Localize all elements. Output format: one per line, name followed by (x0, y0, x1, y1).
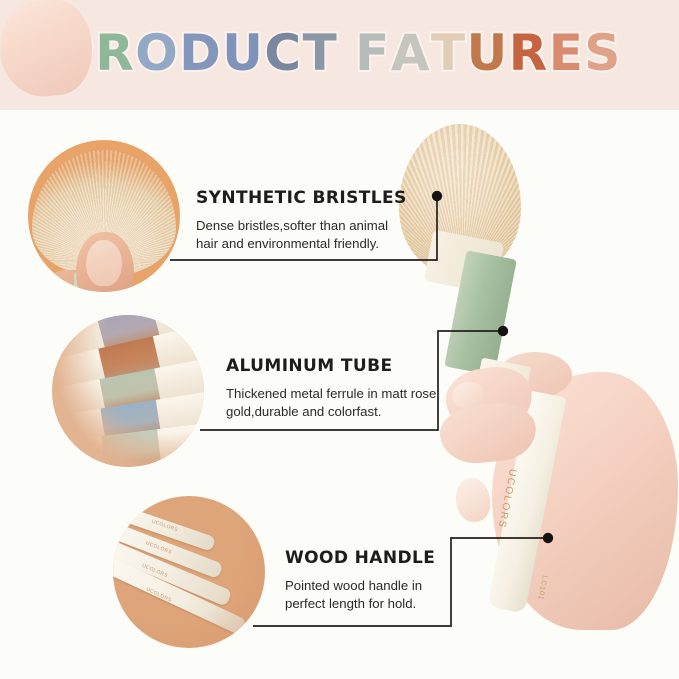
feature-description: Pointed wood handle in perfect length fo… (285, 577, 435, 612)
feature-block-synthetic-bristles: SYNTHETIC BRISTLES Dense bristles,softer… (196, 188, 407, 252)
feature-block-wood-handle: WOOD HANDLE Pointed wood handle in perfe… (285, 548, 435, 612)
feature-title: SYNTHETIC BRISTLES (196, 188, 407, 208)
feature-desc-line1: Pointed wood handle in (285, 578, 422, 593)
feature-description: Dense bristles,softer than animal hair a… (196, 217, 407, 252)
feature-desc-line2: perfect length for hold. (285, 596, 416, 611)
infographic-canvas: PRODUCTFATURES UCOLORSUCOLORSUCOLORSUCOL… (0, 0, 679, 679)
feature-desc-line1: Thickened metal ferrule in matt rose (226, 386, 436, 401)
feature-title: WOOD HANDLE (285, 548, 435, 568)
feature-desc-line1: Dense bristles,softer than animal (196, 218, 388, 233)
feature-block-aluminum-tube: ALUMINUM TUBE Thickened metal ferrule in… (226, 356, 436, 420)
feature-description: Thickened metal ferrule in matt rose gol… (226, 385, 436, 420)
feature-desc-line2: hair and environmental friendly. (196, 236, 379, 251)
feature-title: ALUMINUM TUBE (226, 356, 436, 376)
feature-desc-line2: gold,durable and colorfast. (226, 404, 381, 419)
